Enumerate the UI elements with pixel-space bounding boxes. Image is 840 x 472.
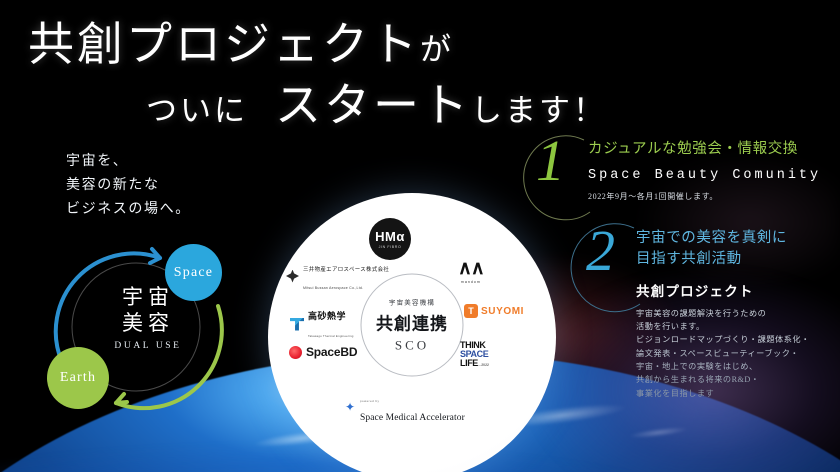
takasago-t-icon [290, 318, 304, 331]
left-caption-line-2: 美容の新たな [66, 174, 191, 198]
mandom-chevron-icon: ∧∧ [458, 259, 484, 278]
mitsui-jp-name: 三井物産エアロスペース株式会社 [303, 267, 389, 273]
suyomi-square-icon: T [464, 304, 478, 318]
sma-wordmark: Space Medical Accelerator [360, 413, 465, 423]
slide-canvas: 共創プロジェクトが ついに スタートします！ 宇宙を、 美容の新たな ビジネスの… [0, 0, 840, 472]
takasago-text-block: 高砂熱学 Takasago Thermal Engineering [308, 306, 354, 342]
hma-circle-mark: HMα JIN FIBRO [369, 218, 411, 260]
cycle-center-en: DUAL USE [90, 341, 206, 351]
hub-kicker: 宇宙美容機構 [389, 297, 435, 307]
tsl-line-3-main: LIFE [460, 358, 478, 368]
takasago-en-name: Takasago Thermal Engineering [308, 334, 354, 338]
activity-2-body-line: 論文発表・スペースビューティーブック・ [636, 347, 834, 360]
logo-mandom[interactable]: ∧∧ mandom [458, 259, 484, 284]
mitsui-text-block: 三井物産エアロスペース株式会社 Mitsui Bussan Aerospace … [303, 258, 389, 294]
logo-hma[interactable]: HMα JIN FIBRO [369, 218, 411, 260]
cycle-node-earth[interactable]: Earth [47, 347, 109, 409]
hub-subtitle: SCO [395, 338, 429, 354]
tsl-line-3: LIFE…2022 [460, 359, 489, 368]
mandom-wordmark: mandom [461, 280, 481, 284]
logo-space-medical-accelerator[interactable]: ✦ powered by Space Medical Accelerator [344, 389, 465, 425]
hub-title: 共創連携 [376, 310, 448, 335]
suyomi-wordmark: SUYOMI [481, 306, 524, 317]
cycle-node-space-label: Space [174, 265, 213, 281]
hma-main-text: HMα [375, 229, 405, 244]
logo-mitsui-bussan-aerospace[interactable]: 三井物産エアロスペース株式会社 Mitsui Bussan Aerospace … [286, 258, 389, 294]
arrowhead-green [116, 394, 127, 403]
activity-item-2: 2 宇宙での美容を真剣に 目指す共創活動 共創プロジェクト 宇宙美容の課題解決を… [528, 228, 834, 400]
activity-item-1: 1 カジュアルな勉強会・情報交換 Space Beauty Comunity 2… [528, 140, 834, 202]
sma-kicker: powered by [360, 399, 379, 403]
partners-hub-circle: 宇宙美容機構 共創連携 SCO HMα JIN FIBRO 三井物産エアロスペー… [268, 193, 556, 472]
left-caption-line-3: ビジネスの場へ。 [66, 198, 191, 222]
activity-2-body-line: 宇宙・地上での実験をはじめ、 [636, 360, 834, 373]
cycle-node-earth-label: Earth [60, 370, 96, 386]
activity-1-number: 1 [536, 132, 565, 190]
logo-suyomi[interactable]: T SUYOMI [464, 304, 524, 318]
activity-1-subtitle-en: Space Beauty Comunity [588, 168, 834, 183]
activity-1-note: 2022年9月〜各月1回開催します。 [588, 191, 834, 202]
cycle-center-label: 宇宙 美容 DUAL USE [90, 285, 206, 351]
cycle-center-jp-line-2: 美容 [90, 311, 206, 337]
dual-use-cycle-diagram: Space Earth 宇宙 美容 DUAL USE [32, 232, 260, 422]
spacebd-circle-icon [289, 346, 302, 359]
activity-1-headline: カジュアルな勉強会・情報交換 [588, 140, 834, 159]
activity-2-body-line: ビジョンロードマップづくり・課題体系化・ [636, 333, 834, 346]
takasago-jp-name: 高砂熱学 [308, 311, 346, 321]
sma-cross-icon: ✦ [344, 401, 356, 413]
tsl-line-3-tiny: …2022 [478, 363, 489, 367]
logo-think-space-life[interactable]: THINK SPACE LIFE…2022 [460, 341, 489, 369]
sma-text-block: powered by Space Medical Accelerator [360, 389, 465, 425]
activity-2-number: 2 [586, 222, 615, 280]
hma-sub-text: JIN FIBRO [379, 245, 402, 249]
spacebd-wordmark: SpaceBD [306, 345, 357, 359]
cycle-center-jp-line-1: 宇宙 [90, 285, 206, 311]
activities-list: 1 カジュアルな勉強会・情報交換 Space Beauty Comunity 2… [528, 140, 834, 400]
logo-spacebd[interactable]: SpaceBD [289, 345, 357, 359]
mitsui-en-name: Mitsui Bussan Aerospace Co.,Ltd. [303, 286, 363, 290]
mitsui-diamond-icon [286, 270, 299, 283]
activity-2-body-line: 事業化を目指します [636, 387, 834, 400]
activity-2-body-line: 共創から生まれる将来のR&D・ [636, 373, 834, 386]
logo-takasago-thermal[interactable]: 高砂熱学 Takasago Thermal Engineering [290, 306, 354, 342]
left-caption: 宇宙を、 美容の新たな ビジネスの場へ。 [66, 150, 191, 222]
activity-1-body: カジュアルな勉強会・情報交換 Space Beauty Comunity 202… [588, 140, 834, 202]
left-caption-line-1: 宇宙を、 [66, 150, 191, 174]
